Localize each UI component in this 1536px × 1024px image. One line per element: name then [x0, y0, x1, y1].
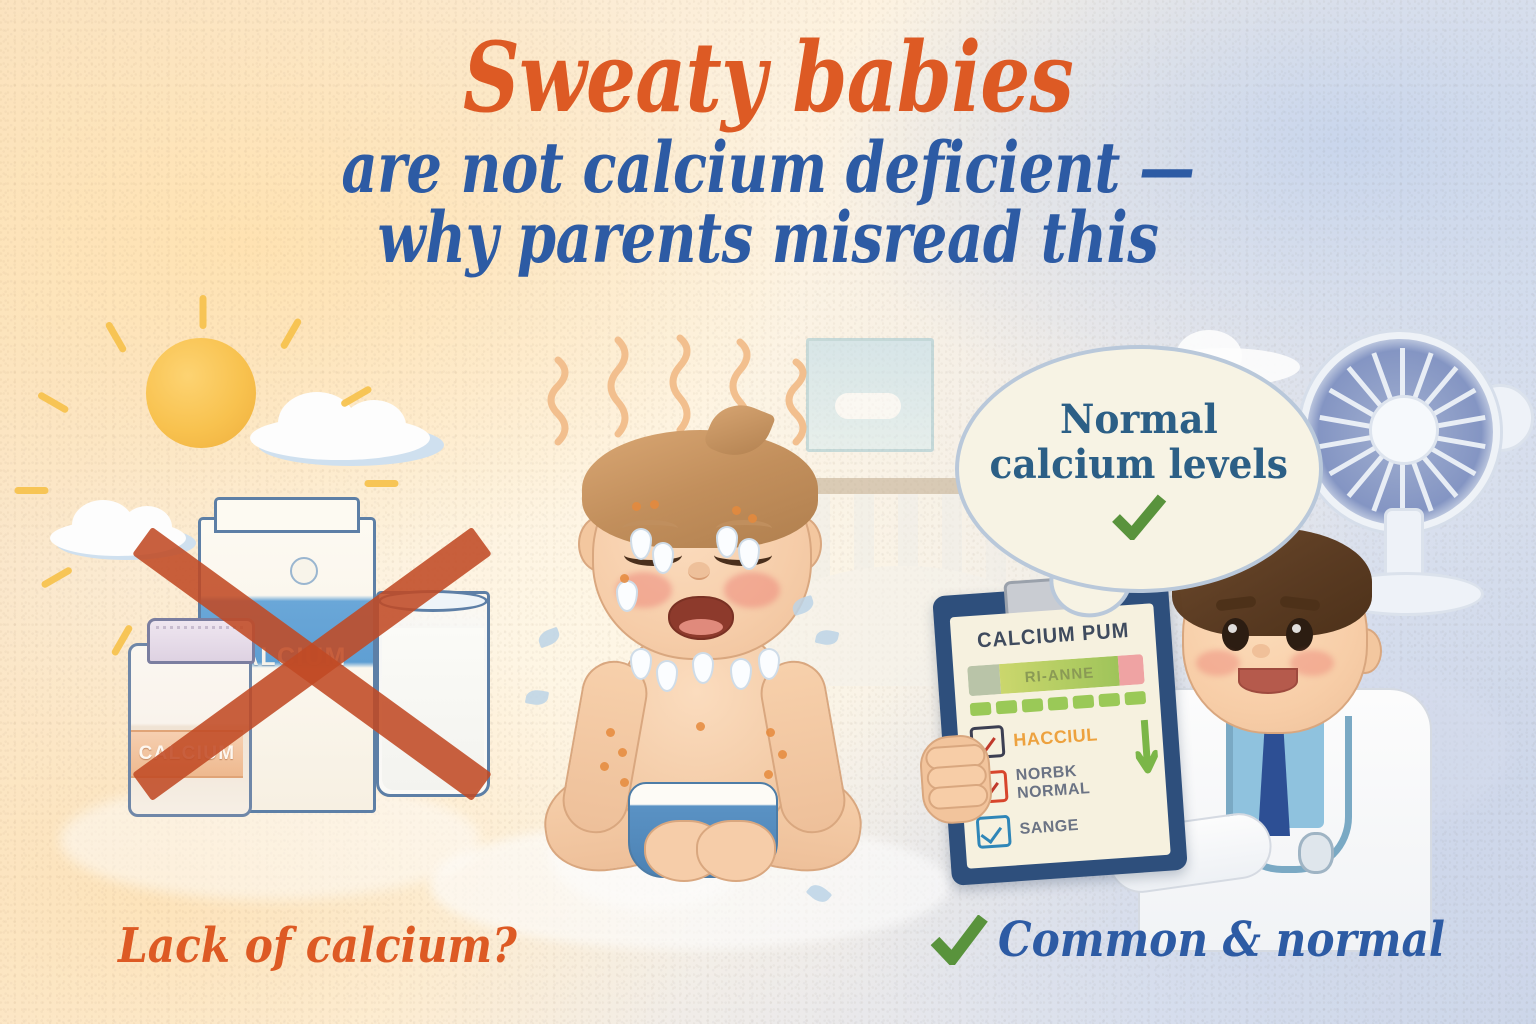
tick-mark	[1099, 693, 1121, 707]
tick-mark	[1073, 695, 1095, 709]
illustration-poster: CALCIUM CALCIUM	[0, 0, 1536, 1024]
page-title: Sweaty babies	[138, 30, 1398, 126]
down-arrow-icon	[1133, 719, 1159, 778]
sun-icon	[78, 276, 328, 506]
heat-rash-dot	[748, 514, 757, 523]
green-check-icon	[930, 915, 988, 965]
heat-rash-dot	[764, 770, 773, 779]
baby-hair	[582, 430, 818, 548]
clipboard-range-bar: RI-ANNE	[967, 654, 1145, 696]
baby-nose	[688, 562, 710, 580]
heat-rash-dot	[606, 728, 615, 737]
sweat-drop-icon	[806, 881, 832, 907]
clipboard-tick-row	[970, 691, 1146, 716]
heat-rash-dot	[620, 778, 629, 787]
heat-rash-dot	[732, 506, 741, 515]
sweat-drop-icon	[525, 688, 549, 707]
calcium-products-group: CALCIUM CALCIUM	[120, 495, 500, 835]
checkbox-checked-icon[interactable]	[976, 815, 1012, 849]
sweaty-baby	[520, 330, 880, 950]
speech-bubble: Normal calcium levels	[955, 345, 1323, 593]
title-block: Sweaty babies are not calcium deficient …	[0, 30, 1536, 275]
tick-mark	[995, 700, 1017, 714]
sweat-drop-icon	[815, 628, 840, 647]
doctor-eye	[1222, 618, 1249, 651]
doctor-nose	[1252, 644, 1270, 658]
heat-rash-dot	[632, 502, 641, 511]
heat-rash-dot	[696, 722, 705, 731]
bubble-line-2: calcium levels	[990, 443, 1288, 488]
doctor-cheek	[1196, 650, 1240, 676]
tick-mark	[1124, 691, 1146, 705]
doctor-smile	[1238, 668, 1298, 694]
tick-mark	[1021, 698, 1043, 712]
page-subtitle-line-2: why parents misread this	[154, 200, 1383, 276]
clipboard-row[interactable]: SANGE	[976, 805, 1158, 849]
bubble-line-1: Normal	[1060, 398, 1218, 443]
clipboard-title: CALCIUM PUM	[967, 618, 1139, 654]
clipboard[interactable]: CALCIUM PUM RI-ANNE HACCIUL	[932, 580, 1188, 886]
range-bar-normal: RI-ANNE	[999, 656, 1121, 694]
baby-mouth	[668, 596, 734, 640]
range-bar-high	[1118, 654, 1145, 686]
baby-foot	[696, 820, 776, 882]
clipboard-row-label: HACCIUL	[1013, 724, 1099, 751]
sweat-drop-icon	[536, 627, 562, 649]
green-check-icon	[1111, 494, 1167, 540]
fan-hub	[1369, 395, 1439, 465]
tick-mark	[970, 702, 992, 716]
doctor-eye	[1286, 618, 1313, 651]
page-subtitle-line-1: are not calcium deficient —	[154, 130, 1383, 206]
caption-right: Common & normal	[930, 912, 1506, 968]
sun-disc	[146, 338, 256, 448]
heat-rash-dot	[620, 574, 629, 583]
stethoscope-bell	[1298, 832, 1334, 874]
heat-rash-dot	[618, 748, 627, 757]
heat-rash-dot	[600, 762, 609, 771]
caption-left: Lack of calcium?	[118, 918, 517, 974]
clipboard-row-label: NORBK NORMAL	[1015, 758, 1154, 803]
clipboard-row[interactable]: NORBK NORMAL	[972, 758, 1154, 806]
heat-rash-dot	[778, 750, 787, 759]
baby-cheek	[724, 572, 780, 608]
clipboard-paper: CALCIUM PUM RI-ANNE HACCIUL	[950, 603, 1171, 869]
heat-rash-dot	[650, 500, 659, 509]
fan-cage	[1300, 332, 1500, 532]
range-bar-low	[967, 664, 1001, 696]
doctor-holding-hand	[918, 733, 994, 826]
milk-carton-cap	[290, 557, 318, 585]
milk-carton-top	[214, 497, 360, 533]
range-bar-label: RI-ANNE	[1024, 664, 1095, 686]
heat-rash-dot	[766, 728, 775, 737]
clipboard-row[interactable]: HACCIUL	[969, 715, 1151, 759]
caption-right-text: Common & normal	[998, 912, 1445, 968]
clipboard-row-label: SANGE	[1019, 817, 1080, 839]
tick-mark	[1047, 696, 1069, 710]
